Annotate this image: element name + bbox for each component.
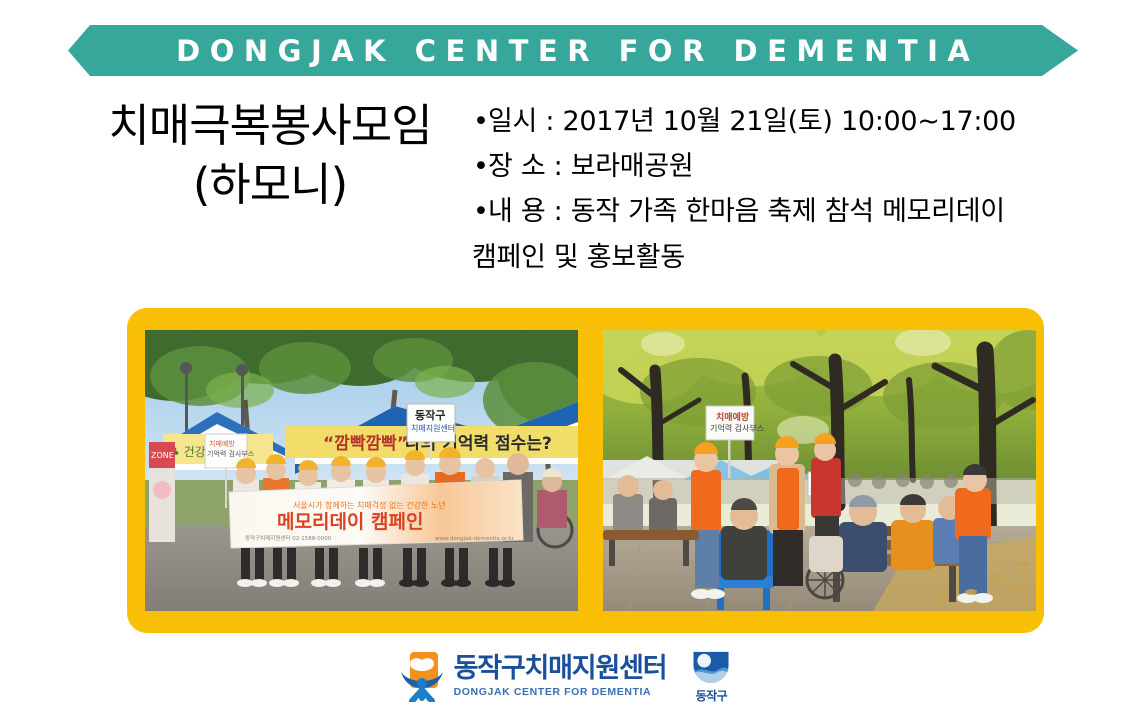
svg-text:ZONE: ZONE (151, 451, 174, 460)
dongjak-dementia-center-symbol-icon (399, 650, 445, 702)
logo-symbol-svg (399, 650, 445, 702)
dongjak-gu-district-emblem-icon: 동작구 (687, 648, 735, 704)
detail-row-date: • 일시 : 2017년 10월 21일(토) 10:00~17:00 (472, 100, 1102, 145)
svg-text:치매지원센터: 치매지원센터 (411, 423, 455, 433)
svg-text:동작구: 동작구 (415, 408, 445, 422)
photo-park-memory-screening: 치매예방 기억력 검사부스 동작구 치매지원센터 (603, 330, 1036, 611)
page-title: 치매극복봉사모임 (하모니) (60, 96, 480, 215)
banner-title-text: DONGJAK CENTER FOR DEMENTIA (68, 25, 1078, 76)
logo-wordmark-korean: 동작구치매지원센터 (454, 655, 667, 682)
page-title-line-1: 치매극복봉사모임 (60, 96, 480, 155)
district-emblem-label: 동작구 (696, 687, 728, 704)
photo-park-memory-screening-image: 치매예방 기억력 검사부스 동작구 치매지원센터 (603, 330, 1036, 611)
detail-row-content-continuation: 캠페인 및 홍보활동 (472, 236, 1102, 281)
photo-memory-day-campaign: “깜빡깜빡” 나의 기억력 점수는? ♣ 건강한 노년 치매예방 기억력 검사부… (145, 330, 578, 611)
bullet-icon: • (473, 100, 489, 145)
header-banner: DONGJAK CENTER FOR DEMENTIA (68, 25, 1078, 76)
page-title-line-2: (하모니) (60, 155, 480, 214)
event-details-list: • 일시 : 2017년 10월 21일(토) 10:00~17:00 • 장 … (472, 100, 1102, 281)
detail-row-date-text: 일시 : 2017년 10월 21일(토) 10:00~17:00 (488, 106, 1016, 137)
photo-gallery-frame: “깜빡깜빡” 나의 기억력 점수는? ♣ 건강한 노년 치매예방 기억력 검사부… (127, 308, 1044, 633)
svg-text:동작구치매지원센터 02-1588-0000: 동작구치매지원센터 02-1588-0000 (245, 534, 332, 542)
svg-text:치매예방: 치매예방 (209, 439, 235, 448)
bullet-icon: • (473, 145, 489, 190)
svg-text:서울시가 함께하는 치매걱정 없는 건강한 노년: 서울시가 함께하는 치매걱정 없는 건강한 노년 (293, 500, 446, 510)
svg-text:기억력 검사부스: 기억력 검사부스 (710, 423, 764, 433)
detail-row-place-text: 장 소 : 보라매공원 (488, 151, 693, 182)
district-emblem-svg (689, 648, 733, 685)
photo-memory-day-campaign-image: “깜빡깜빡” 나의 기억력 점수는? ♣ 건강한 노년 치매예방 기억력 검사부… (145, 330, 578, 611)
bullet-icon: • (473, 190, 489, 235)
svg-text:www.dongjak-dementia.or.kr: www.dongjak-dementia.or.kr (435, 536, 515, 542)
svg-text:“깜빡깜빡”: “깜빡깜빡” (323, 434, 408, 454)
svg-text:기억력 검사부스: 기억력 검사부스 (207, 449, 255, 458)
footer-logo-lockup: 동작구치매지원센터 DONGJAK CENTER FOR DEMENTIA 동작… (0, 645, 1134, 707)
logo-wordmark: 동작구치매지원센터 DONGJAK CENTER FOR DEMENTIA (454, 655, 667, 698)
svg-text:메모리데이 캠페인: 메모리데이 캠페인 (277, 511, 423, 533)
logo-wordmark-english: DONGJAK CENTER FOR DEMENTIA (454, 687, 652, 698)
svg-text:치매예방: 치매예방 (716, 411, 750, 423)
detail-row-content-text: 내 용 : 동작 가족 한마음 축제 참석 메모리데이 (488, 196, 1005, 227)
detail-row-content: • 내 용 : 동작 가족 한마음 축제 참석 메모리데이 (472, 190, 1102, 235)
detail-row-place: • 장 소 : 보라매공원 (472, 145, 1102, 190)
